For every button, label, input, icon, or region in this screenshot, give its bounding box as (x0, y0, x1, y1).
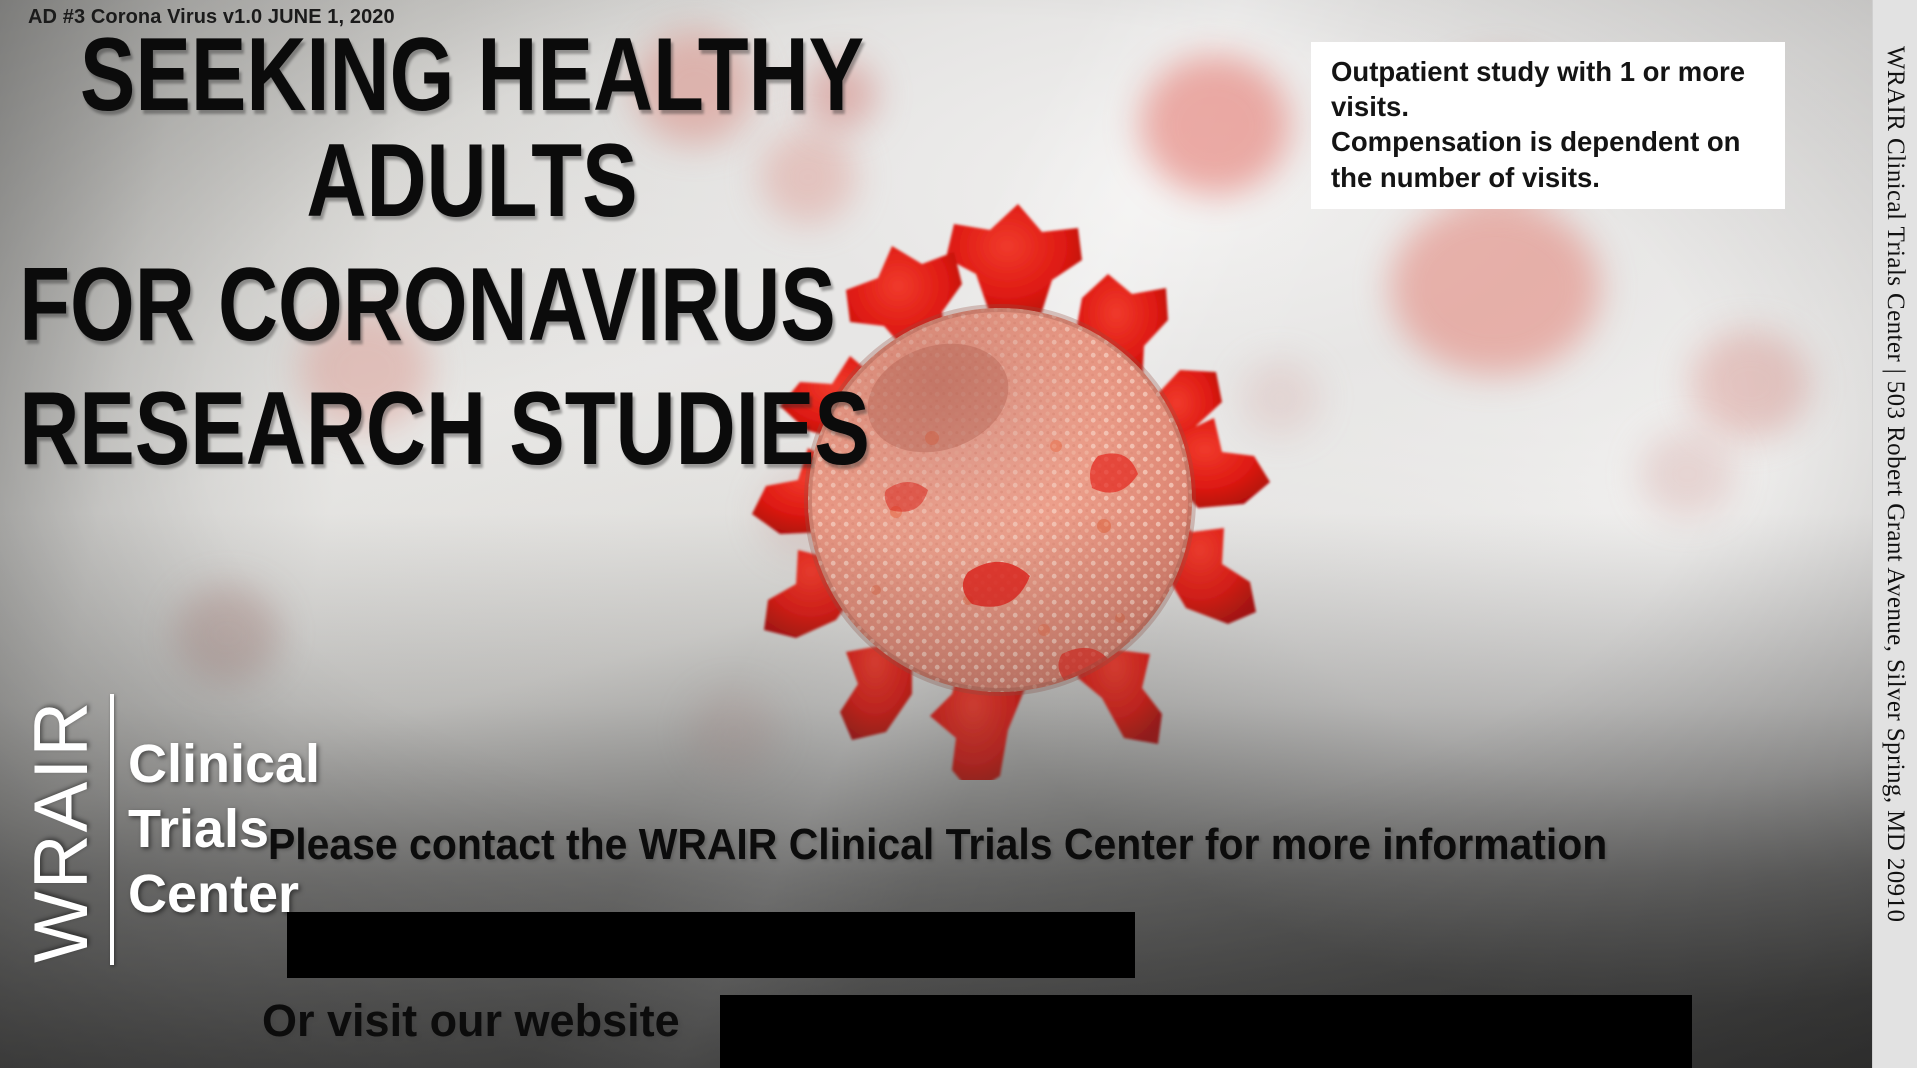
callout-line-1: Outpatient study with 1 or more visits. (1331, 54, 1767, 124)
wrair-wordmark: WRAIR (22, 690, 100, 965)
flyer-poster: AD #3 Corona Virus v1.0 JUNE 1, 2020 SEE… (0, 0, 1917, 1068)
redacted-phone-bar (287, 912, 1135, 978)
logo-divider-rule (110, 694, 114, 965)
redacted-website-bar (720, 995, 1692, 1068)
contact-instruction: Please contact the WRAIR Clinical Trials… (268, 820, 1607, 870)
headline-line-1: SEEKING HEALTHY (0, 22, 944, 128)
headline-line-4: RESEARCH STUDIES (0, 376, 944, 482)
study-details-callout: Outpatient study with 1 or more visits. … (1311, 42, 1785, 209)
address-sidebar: WRAIR Clinical Trials Center | 503 Rober… (1872, 0, 1917, 1068)
website-prefix-label: Or visit our website (262, 995, 680, 1047)
headline-line-3: FOR CORONAVIRUS (0, 252, 944, 358)
callout-line-2: Compensation is dependent on the number … (1331, 124, 1767, 194)
headline-line-2: ADULTS (0, 128, 944, 234)
logo-subtitle-line-1: Clinical (128, 732, 320, 797)
page-title: SEEKING HEALTHY ADULTS FOR CORONAVIRUS R… (0, 22, 944, 482)
sidebar-address-text: WRAIR Clinical Trials Center | 503 Rober… (1881, 46, 1909, 922)
